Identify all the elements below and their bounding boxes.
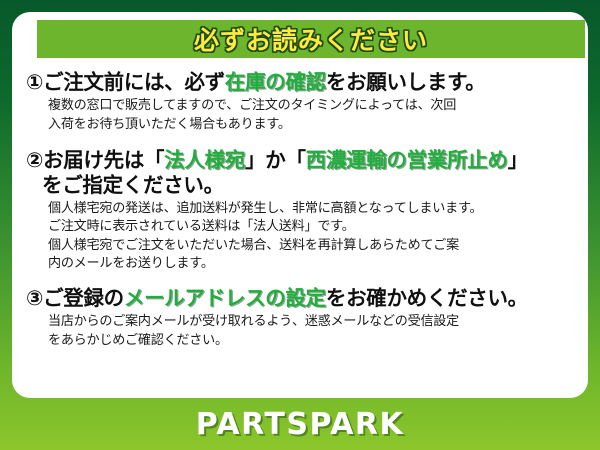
notice-item-1-headline-part-1: ご注文前には、必ず: [43, 70, 225, 94]
notice-item-2-subtext-line-4: 内のメールをお送りします。: [48, 255, 578, 274]
notice-item-3-subtext: 当店からのご案内メールが受け取れるよう、迷惑メールなどの受信設定 をあらかじめご…: [48, 313, 578, 350]
notice-item-2-headline-highlight-1: 法人様宛: [164, 148, 245, 172]
footer-brand-bar: PARTSPARK: [0, 398, 600, 450]
notice-item-1-headline-part-3: をお願いします。: [326, 70, 486, 94]
brand-logo-text: PARTSPARK: [196, 407, 405, 442]
notice-item-3-subtext-line-1: 当店からのご案内メールが受け取れるよう、迷惑メールなどの受信設定: [48, 313, 578, 332]
notice-item-2: ②お届け先は「法人様宛」か「西濃運輸の営業所止め」 をご指定ください。 個人様宅…: [26, 148, 578, 274]
notice-item-2-headline-part-5: 」: [508, 148, 528, 172]
notice-item-1-subtext: 複数の窓口で販売してますので、ご注文のタイミングによっては、次回 入荷をお待ち頂…: [48, 97, 578, 134]
notice-item-1-headline: ①ご注文前には、必ず在庫の確認をお願いします。: [26, 70, 578, 94]
notice-item-1-headline-highlight: 在庫の確認: [225, 70, 326, 94]
notice-panel: 必ずお読みください ①ご注文前には、必ず在庫の確認をお願いします。 複数の窓口で…: [12, 12, 588, 398]
notice-item-1-subtext-line-1: 複数の窓口で販売してますので、ご注文のタイミングによっては、次回: [48, 97, 578, 116]
notice-item-3-marker: ③: [26, 286, 43, 310]
notice-item-2-headline-part-3: 」か「: [245, 148, 306, 172]
notice-item-3-headline: ③ご登録のメールアドレスの設定をお確かめください。: [26, 286, 578, 310]
notice-item-2-marker: ②: [26, 148, 43, 172]
notice-item-2-subtext: 個人様宅宛の発送は、追加送料が発生し、非常に高額となってしまいます。 ご注文時に…: [48, 200, 578, 274]
notice-item-3-headline-part-1: ご登録の: [43, 286, 124, 310]
notice-item-2-headline-highlight-2: 西濃運輸の営業所止め: [306, 148, 508, 172]
notice-item-2-headline-part-1: お届け先は「: [43, 148, 164, 172]
notice-title-bar: 必ずお読みください: [37, 20, 585, 58]
notice-item-1-subtext-line-2: 入荷をお待ち頂いただく場合もあります。: [48, 116, 578, 135]
notice-item-3: ③ご登録のメールアドレスの設定をお確かめください。 当店からのご案内メールが受け…: [26, 286, 578, 350]
notice-item-3-headline-highlight: メールアドレスの設定: [124, 286, 326, 310]
notice-item-3-headline-part-3: をお確かめください。: [326, 286, 528, 310]
notice-item-1: ①ご注文前には、必ず在庫の確認をお願いします。 複数の窓口で販売してますので、ご…: [26, 70, 578, 134]
notice-item-2-headline-line-2: をご指定ください。: [42, 173, 578, 197]
notice-item-1-marker: ①: [26, 70, 43, 94]
notice-item-2-subtext-line-1: 個人様宅宛の発送は、追加送料が発生し、非常に高額となってしまいます。: [48, 200, 578, 219]
notice-title-text: 必ずお読みください: [194, 21, 428, 57]
notice-item-2-subtext-line-2: ご注文時に表示されている送料は「法人送料」です。: [48, 218, 578, 237]
notice-item-2-headline: ②お届け先は「法人様宛」か「西濃運輸の営業所止め」: [26, 148, 578, 172]
notice-item-3-subtext-line-2: をあらかじめご確認ください。: [48, 332, 578, 351]
notice-item-2-subtext-line-3: 個人様宅宛でご注文をいただいた場合、送料を再計算しあらためてご案: [48, 237, 578, 256]
notice-content: ①ご注文前には、必ず在庫の確認をお願いします。 複数の窓口で販売してますので、ご…: [26, 70, 578, 350]
